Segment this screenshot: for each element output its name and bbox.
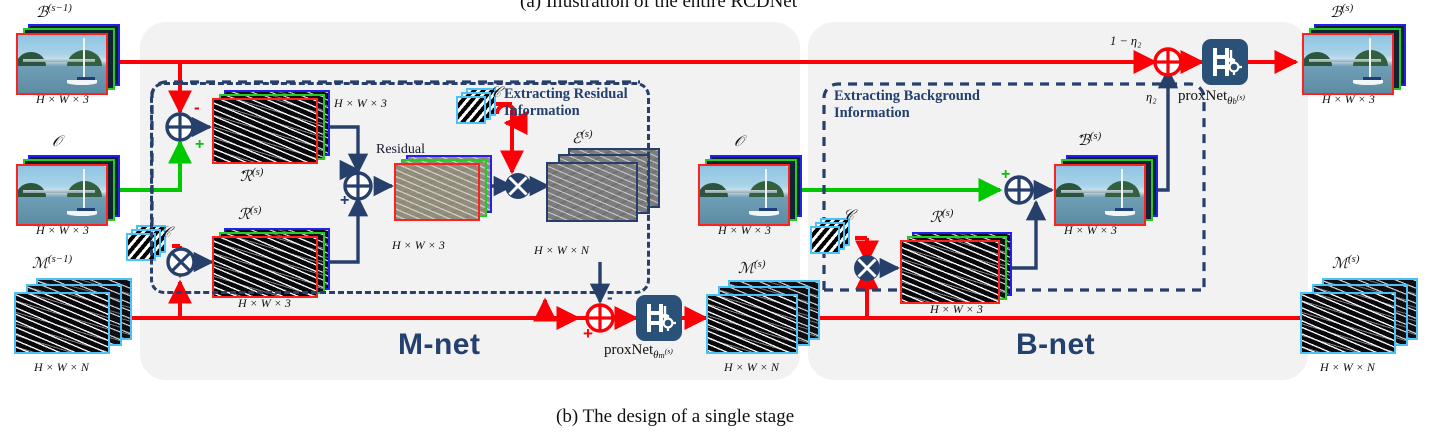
- dim-r-s: H × W × 3: [930, 302, 983, 317]
- dim-m-out-mid: H × W × N: [724, 360, 779, 375]
- label-c-bnet: 𝒞: [843, 207, 854, 225]
- dim-residual: H × W × 3: [392, 238, 445, 253]
- extracting-residual-title: Extracting Residual Information: [504, 86, 628, 120]
- dim-o-mnet: H × W × 3: [36, 223, 89, 238]
- label-c-residual: 𝒞: [490, 84, 501, 102]
- label-o-bnet: 𝒪: [734, 133, 743, 151]
- proxnet-m-icon: [636, 295, 682, 341]
- figure-rcdnet-stage: .r{stroke:#fb0007;stroke-width:4;fill:no…: [0, 0, 1440, 444]
- label-o-mnet: 𝒪: [52, 133, 61, 151]
- label-m-prev: ℳ(s−1): [32, 253, 72, 273]
- dim-o-bnet: H × W × 3: [718, 223, 771, 238]
- sign-plus-mnet-2: +: [340, 192, 349, 210]
- label-residual: Residual: [376, 142, 425, 158]
- sign-minus-mnet-prox: -: [607, 288, 613, 308]
- oplus-bnet-prox: [1155, 49, 1181, 75]
- label-m-out-mid: ℳ(s): [738, 258, 765, 278]
- label-one-minus-eta2: 1 − η₂: [1110, 34, 1141, 49]
- dim-b-hat: H × W × 3: [1064, 223, 1117, 238]
- label-b-hat: ̂ℬ(s): [1078, 130, 1101, 150]
- dim-b-out: H × W × 3: [1322, 92, 1375, 107]
- label-proxnet-b: proxNetθb(s): [1178, 88, 1245, 107]
- label-r-s: ℛ(s): [930, 207, 953, 227]
- sign-plus-mnet-1: +: [195, 136, 204, 154]
- sign-plus-mnet-prox: +: [583, 324, 593, 344]
- label-eta2: η₂: [1146, 90, 1157, 105]
- label-r-tilde: ℛ(s): [238, 204, 261, 224]
- dim-e-s: H × W × N: [534, 243, 589, 258]
- label-proxnet-m: proxNetθm(s): [604, 342, 673, 361]
- dim-b-prev: H × W × 3: [36, 92, 89, 107]
- dim-r-hat: H × W × 3: [334, 96, 387, 111]
- m-net-label: M-net: [398, 328, 480, 362]
- b-net-label: B-net: [1016, 328, 1095, 362]
- dim-m-out: H × W × N: [1320, 360, 1375, 375]
- dim-r-tilde: H × W × 3: [238, 296, 291, 311]
- label-b-out: ℬ(s): [1330, 2, 1353, 22]
- dim-m-prev: H × W × N: [34, 360, 89, 375]
- label-r-hat: ̂ℛ(s): [240, 166, 263, 186]
- label-b-prev: ℬ(s−1): [36, 2, 72, 22]
- sign-plus-bnet: +: [1001, 166, 1010, 184]
- caption-b: (b) The design of a single stage: [556, 406, 794, 428]
- caption-a: (a) Illustration of the entire RCDNet: [520, 0, 797, 13]
- otimes-bnet: [854, 255, 880, 281]
- sign-minus-bnet: -: [1033, 194, 1039, 214]
- label-c-mnet: 𝒞: [160, 224, 171, 242]
- sign-minus-mnet-1: -: [194, 98, 200, 118]
- label-m-out: ℳ(s): [1332, 253, 1359, 273]
- sign-minus-mnet-2: -: [340, 155, 346, 175]
- extracting-background-title: Extracting Background Information: [834, 88, 980, 122]
- label-e-s: ℰ(s): [572, 128, 593, 148]
- proxnet-b-icon: [1202, 39, 1248, 85]
